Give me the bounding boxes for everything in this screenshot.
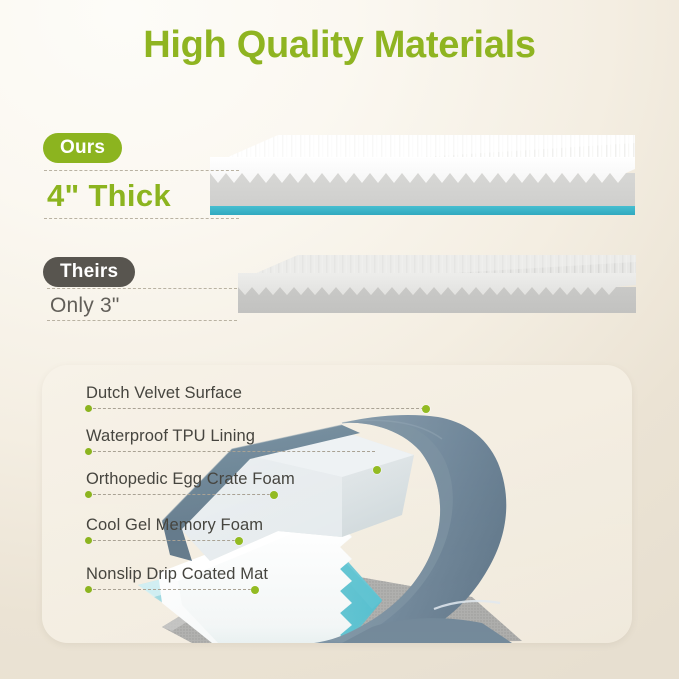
feature-dot-start-1: [85, 405, 92, 412]
feature-label-waterproof-tpu-lining: Waterproof TPU Lining: [86, 427, 255, 446]
feature-dot-start-4: [85, 537, 92, 544]
feature-dot-end-4: [235, 537, 243, 545]
badge-ours-label: Ours: [60, 137, 105, 159]
feature-label-dutch-velvet-surface: Dutch Velvet Surface: [86, 384, 242, 403]
page-title: High Quality Materials: [0, 24, 679, 67]
badge-theirs: Theirs: [43, 257, 135, 287]
feature-dot-end-1: [422, 405, 430, 413]
ours-guide-bottom: [44, 218, 239, 219]
theirs-thickness-text: Only 3": [50, 294, 120, 318]
ours-guide-top: [44, 170, 239, 171]
feature-label-cool-gel-memory-foam: Cool Gel Memory Foam: [86, 516, 263, 535]
ours-mattress-illustration: [210, 133, 635, 223]
feature-label-orthopedic-egg-crate-foam: Orthopedic Egg Crate Foam: [86, 470, 295, 489]
feature-dot-end-3: [270, 491, 278, 499]
feature-dot-start-3: [85, 491, 92, 498]
ours-thickness-text: 4" Thick: [47, 178, 171, 214]
feature-dot-end-2: [373, 466, 381, 474]
feature-dot-start-2: [85, 448, 92, 455]
feature-dot-start-5: [85, 586, 92, 593]
feature-connector-3: [88, 494, 275, 495]
infographic-page: High Quality Materials: [0, 0, 679, 679]
feature-connector-2: [88, 451, 375, 452]
feature-dot-end-5: [251, 586, 259, 594]
badge-ours: Ours: [43, 133, 122, 163]
theirs-guide-bottom: [47, 320, 237, 321]
feature-connector-4: [88, 540, 240, 541]
feature-connector-1: [88, 408, 424, 409]
badge-theirs-label: Theirs: [60, 261, 118, 283]
feature-connector-5: [88, 589, 256, 590]
layer-stack-illustration: [42, 365, 632, 643]
theirs-guide-top: [47, 288, 237, 289]
layers-panel: Dutch Velvet Surface Waterproof TPU Lini…: [42, 365, 632, 643]
feature-label-nonslip-drip-coated-mat: Nonslip Drip Coated Mat: [86, 565, 268, 584]
theirs-mattress-illustration: [238, 253, 636, 321]
